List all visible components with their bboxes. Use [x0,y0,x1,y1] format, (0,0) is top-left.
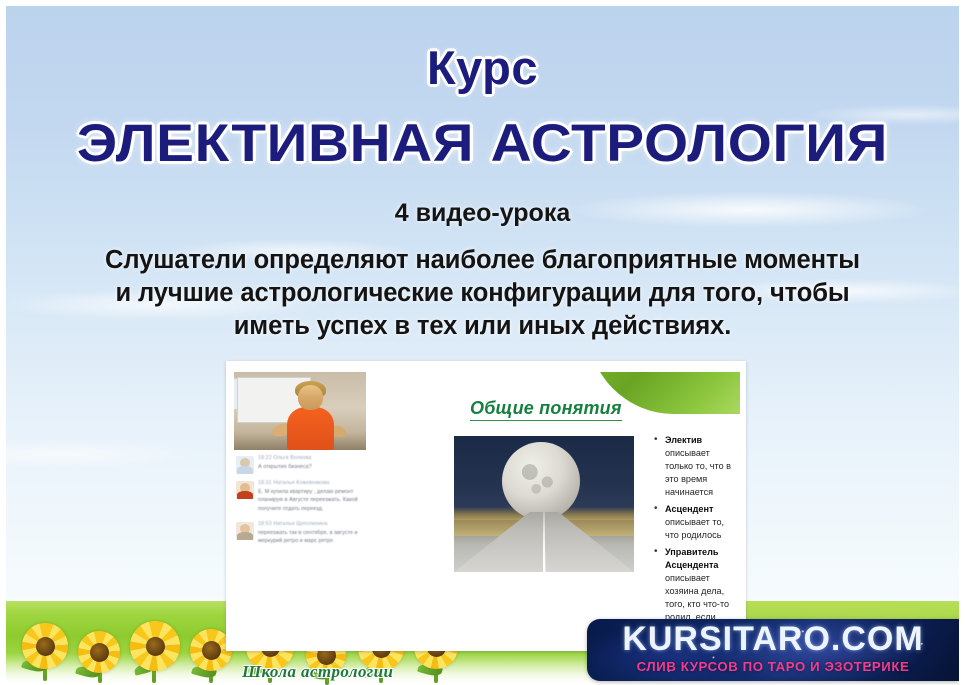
moon-over-road-image [454,436,634,572]
chat-message: 18:31 Наталья Кожевникова Е. М купила кв… [234,477,366,518]
bullet-rest: описывает то, что родилось [665,517,724,540]
chat-text: переезжать так в сентябре, в августе и м… [258,529,362,547]
chat-message: 18:22 Ольга Волкова А открытия бизнеса? [234,452,366,477]
presenter-webcam [234,372,366,450]
chat-panel[interactable]: 18:22 Ольга Волкова А открытия бизнеса? … [234,452,366,646]
chat-message: 18:53 Наталья Щеголихина переезжать так … [234,518,366,550]
bullet-lead: Электив [665,435,702,445]
description-line-2: и лучшие астрологические конфигурации дл… [6,277,959,310]
poster-heading-block: Курс ЭЛЕКТИВНАЯ АСТРОЛОГИЯ 4 видео-урока [6,6,959,226]
player-left-column: 18:22 Ольга Волкова А открытия бизнеса? … [234,372,366,646]
chat-text: А открытия бизнеса? [258,463,362,472]
list-item: Электив описывает только то, что в это в… [652,434,736,499]
chat-text: Е. М купила квартиру , делаю ремонт план… [258,488,362,514]
school-signature: Школа астрологии [242,662,393,682]
slide-title: Общие понятия [470,398,622,421]
watermark-tagline: СЛИВ КУРСОВ ПО ТАРО И ЭЗОТЕРИКЕ [587,659,959,674]
description-line-3: иметь успех в тех или иных действиях. [6,310,959,343]
lesson-count: 4 видео-урока [6,201,959,226]
slide-bullet-list: Электив описывает только то, что в это в… [652,434,736,646]
watermark-domain: KURSITARO.COM [587,621,959,658]
description-line-1: Слушатели определяют наиболее благоприят… [6,244,959,277]
avatar [236,522,254,540]
lesson-screenshot: 18:22 Ольга Волкова А открытия бизнеса? … [226,361,746,651]
chat-author: 18:31 Наталья Кожевникова [258,480,362,488]
bullet-rest: описывает только то, что в это время нач… [665,448,731,497]
promo-poster: Курс ЭЛЕКТИВНАЯ АСТРОЛОГИЯ 4 видео-урока… [0,0,965,685]
chat-author: 18:53 Наталья Щеголихина [258,521,362,529]
chat-author: 18:22 Ольга Волкова [258,455,362,463]
site-watermark: KURSITARO.COM СЛИВ КУРСОВ ПО ТАРО И ЭЗОТ… [587,619,959,681]
sky-background: Курс ЭЛЕКТИВНАЯ АСТРОЛОГИЯ 4 видео-урока… [6,6,959,685]
course-description: Слушатели определяют наиболее благоприят… [6,244,959,343]
sunflower-icon [22,623,68,669]
list-item: Асцендент описывает то, что родилось [652,503,736,542]
avatar [236,481,254,499]
avatar [236,456,254,474]
moon-icon [502,442,580,520]
bullet-lead: Управитель Асцендента [665,547,718,570]
course-eyebrow: Курс [6,44,959,91]
bullet-lead: Асцендент [665,504,713,514]
sunflower-icon [78,631,120,673]
page-title: ЭЛЕКТИВНАЯ АСТРОЛОГИЯ [6,117,959,170]
presentation-slide: Общие понятия Электив описывает только т… [374,372,740,646]
sunflower-icon [130,621,180,671]
